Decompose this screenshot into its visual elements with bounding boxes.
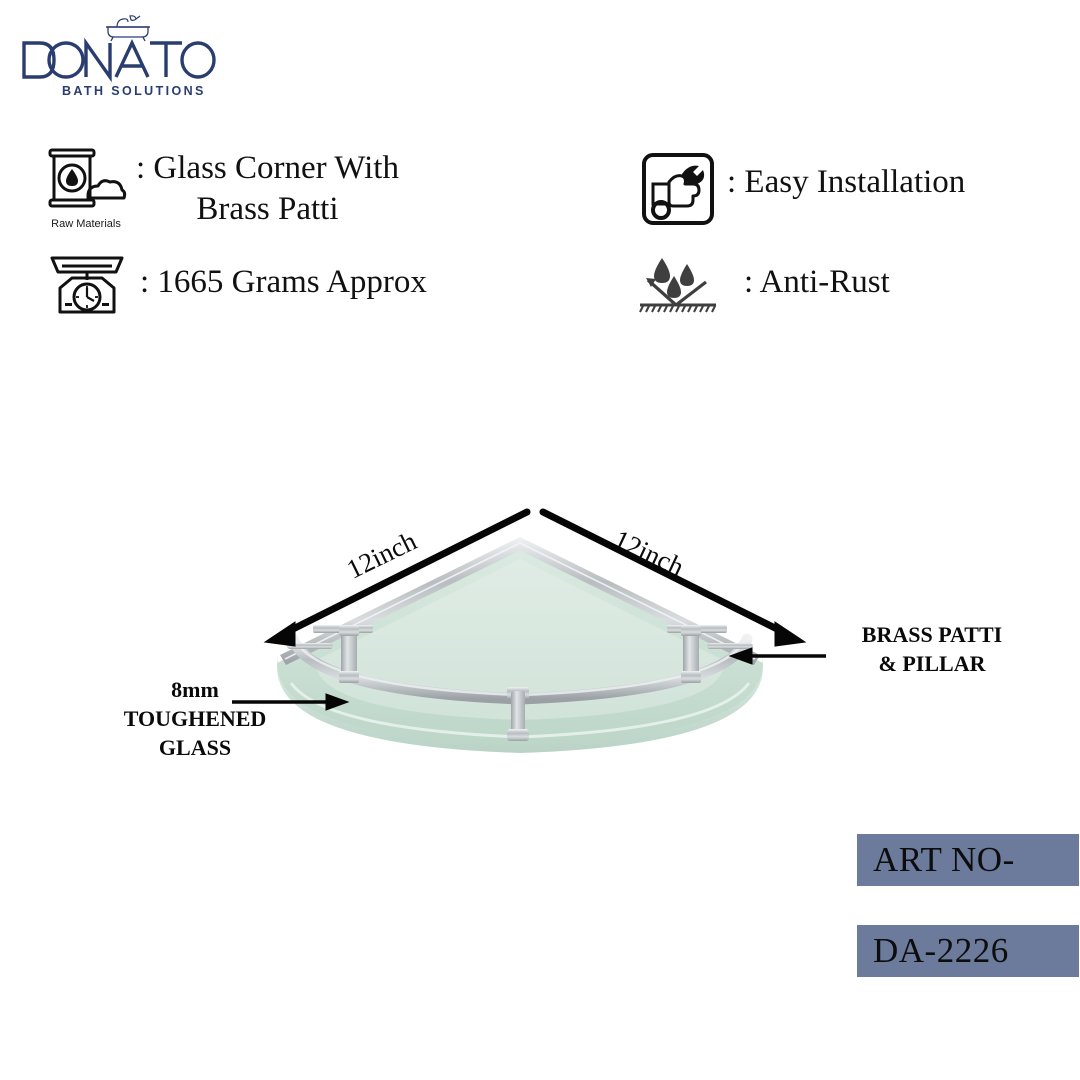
water-repellent-droplets-icon — [632, 252, 724, 318]
feature-text: : Easy Installation — [727, 152, 965, 203]
brand-wordmark — [18, 38, 218, 82]
feature-text: : 1665 Grams Approx — [140, 252, 427, 303]
art-no-label: ART NO- — [857, 834, 1079, 886]
feature-text: : Glass Corner With Brass Patti — [136, 146, 399, 231]
feature-weight: : 1665 Grams Approx — [44, 252, 427, 318]
feature-raw-materials: Raw Materials : Glass Corner With Brass … — [44, 146, 399, 236]
feature-anti-rust: : Anti-Rust — [632, 252, 890, 318]
brand-tagline: BATH SOLUTIONS — [62, 84, 206, 98]
feature-caption: Raw Materials — [44, 218, 128, 230]
feature-text: : Anti-Rust — [744, 252, 890, 303]
barrel-raw-materials-icon: Raw Materials — [44, 146, 128, 236]
weighing-scale-icon — [44, 252, 130, 318]
feature-easy-installation: : Easy Installation — [641, 152, 965, 226]
brand-logo: BATH SOLUTIONS — [18, 14, 248, 100]
art-no-value: DA-2226 — [857, 925, 1079, 977]
product-diagram: BRASS PATTI & PILLAR 8mm TOUGHENED GLASS — [0, 470, 1080, 810]
callout-toughened-glass: 8mm TOUGHENED GLASS — [95, 675, 295, 762]
callout-brass-patti-pillar: BRASS PATTI & PILLAR — [832, 620, 1032, 678]
hand-wrench-icon — [641, 152, 715, 226]
